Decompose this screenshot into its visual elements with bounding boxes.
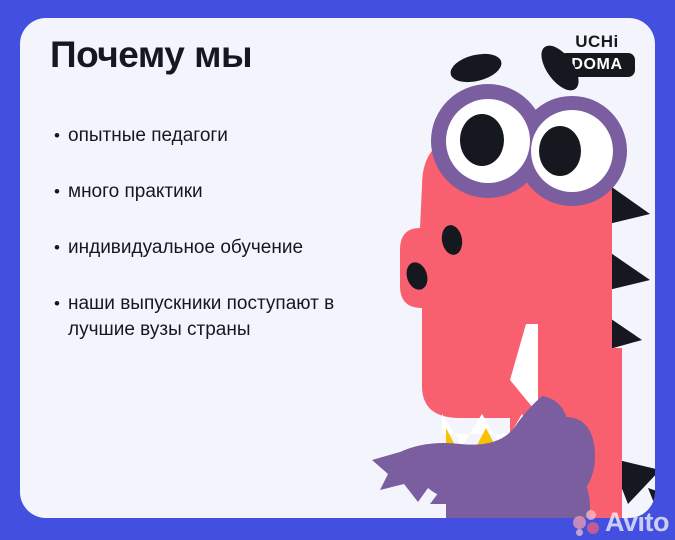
- bullet-marker-icon: •: [54, 179, 68, 205]
- list-item: • наши выпускники поступают в лучшие вуз…: [54, 291, 344, 343]
- avito-dots-icon: [573, 508, 603, 536]
- page-title: Почему мы: [50, 34, 252, 76]
- dinosaur-mascot: [360, 18, 655, 518]
- slide-canvas: Почему мы UCHi DOMA • опытные педагоги •…: [0, 0, 675, 540]
- list-item-label: наши выпускники поступают в лучшие вузы …: [68, 291, 344, 343]
- list-item: • много практики: [54, 179, 344, 205]
- avito-wordmark: Avito: [605, 508, 669, 536]
- benefits-list: • опытные педагоги • много практики • ин…: [54, 123, 344, 373]
- list-item-label: много практики: [68, 179, 203, 205]
- list-item-label: опытные педагоги: [68, 123, 228, 149]
- list-item: • опытные педагоги: [54, 123, 344, 149]
- avito-watermark: Avito: [573, 508, 669, 536]
- bullet-marker-icon: •: [54, 291, 68, 317]
- list-item: • индивидуальное обучение: [54, 235, 344, 261]
- bullet-marker-icon: •: [54, 235, 68, 261]
- mascot-foot: [446, 494, 520, 518]
- list-item-label: индивидуальное обучение: [68, 235, 303, 261]
- content-card: Почему мы UCHi DOMA • опытные педагоги •…: [20, 18, 655, 518]
- bullet-marker-icon: •: [54, 123, 68, 149]
